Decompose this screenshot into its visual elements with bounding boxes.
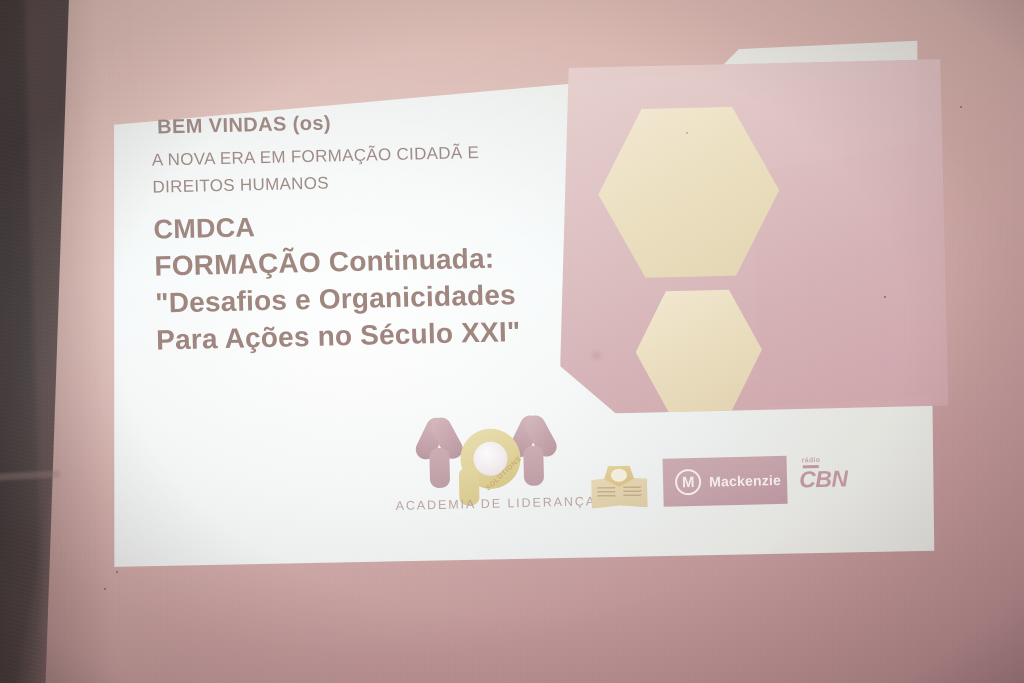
slide-title-block: CMDCA FORMAÇÃO Continuada: "Desafios e O… — [153, 203, 678, 357]
slide-text-column: BEM VINDAS (os) A NOVA ERA EM FORMAÇÃO C… — [151, 105, 679, 362]
title-line-4: Para Ações no Século XXI" — [156, 313, 679, 357]
ypy-letter-p: SOLUTIONS — [454, 426, 522, 506]
subtitle-line-2: DIREITOS HUMANOS — [152, 166, 674, 198]
mackenzie-monogram-icon: M — [675, 469, 702, 496]
photo-scene: BEM VINDAS (os) A NOVA ERA EM FORMAÇÃO C… — [0, 0, 1024, 683]
open-book-emblem-icon — [591, 465, 648, 508]
cbn-logo: rádio CBN — [799, 454, 862, 501]
title-line-3: "Desafios e Organicidades — [155, 276, 678, 320]
subtitle-line-1: A NOVA ERA EM FORMAÇÃO CIDADÃ E — [152, 139, 674, 171]
cbn-kicker: rádio — [802, 457, 821, 464]
cbn-wordmark: CBN — [799, 466, 848, 494]
welcome-heading: BEM VINDAS (os) — [157, 105, 673, 140]
title-line-1: CMDCA — [153, 203, 676, 246]
projected-slide: BEM VINDAS (os) A NOVA ERA EM FORMAÇÃO C… — [94, 38, 948, 583]
mackenzie-wordmark: Mackenzie — [709, 472, 781, 490]
logo-row: SOLUTIONS ACADEMIA DE LIDERANÇA M Macken… — [405, 401, 930, 560]
ypy-caption: ACADEMIA DE LIDERANÇA — [396, 495, 597, 514]
ypy-logo-icon: SOLUTIONS ACADEMIA DE LIDERANÇA — [407, 409, 569, 511]
title-line-2: FORMAÇÃO Continuada: — [154, 239, 677, 283]
mackenzie-logo: M Mackenzie — [663, 456, 788, 507]
